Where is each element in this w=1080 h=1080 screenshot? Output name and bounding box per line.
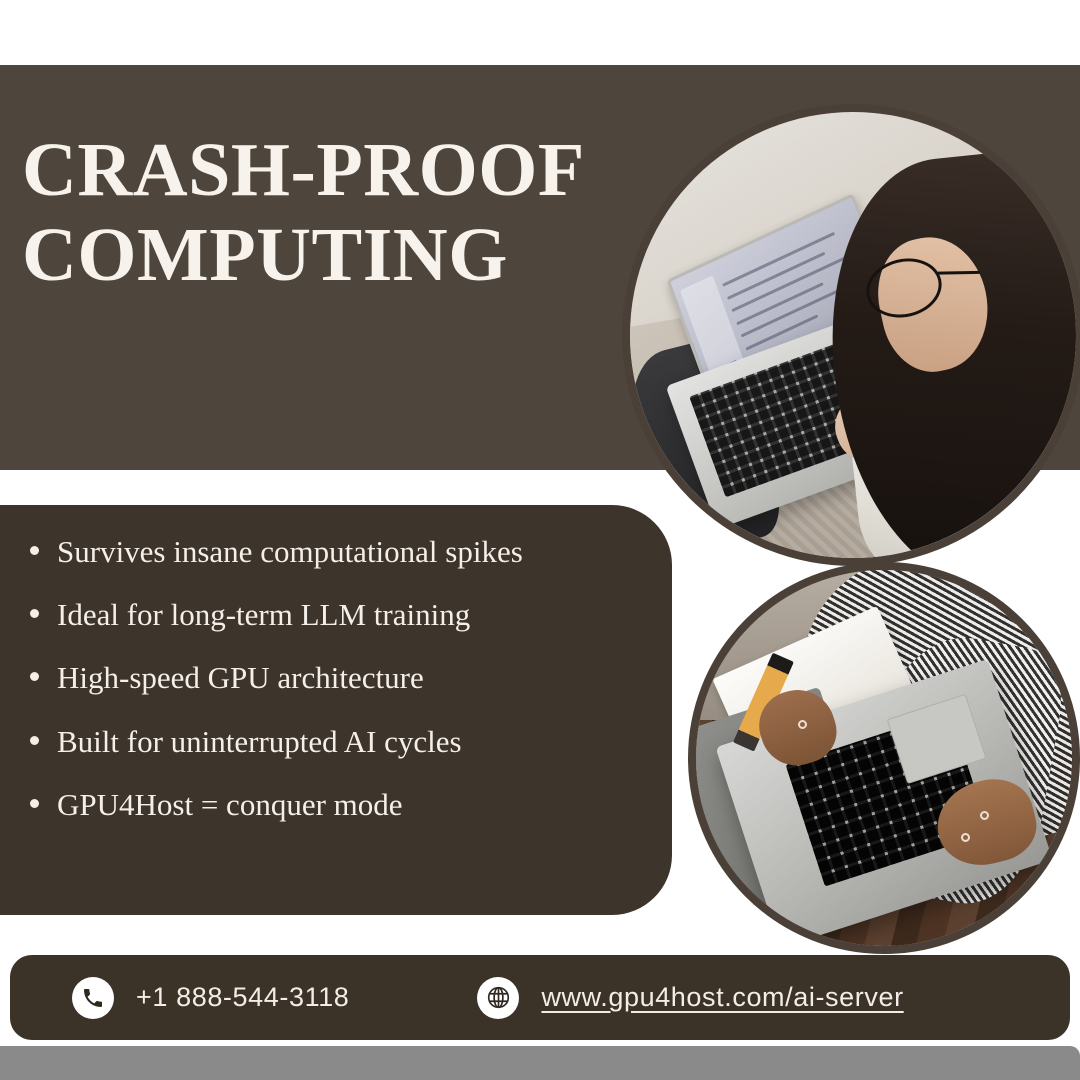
website-url[interactable]: www.gpu4host.com/ai-server <box>541 982 903 1013</box>
list-item: Built for uninterrupted AI cycles <box>30 723 652 760</box>
list-item: GPU4Host = conquer mode <box>30 786 652 823</box>
bullet-icon <box>30 672 39 681</box>
photo-woman-laptop-art <box>630 112 1076 558</box>
feature-label: High-speed GPU architecture <box>57 659 424 696</box>
phone-number: +1 888-544-3118 <box>136 982 349 1013</box>
poster-canvas: CRASH-PROOF COMPUTING <box>0 0 1080 1080</box>
footer-contact-bar: +1 888-544-3118 www.gpu4host.com/ai-serv… <box>10 955 1070 1040</box>
phone-icon <box>72 977 114 1019</box>
bullet-icon <box>30 736 39 745</box>
contact-website[interactable]: www.gpu4host.com/ai-server <box>477 977 903 1019</box>
photo-hands-laptop <box>688 562 1080 954</box>
contact-phone[interactable]: +1 888-544-3118 <box>72 977 349 1019</box>
page-title: CRASH-PROOF COMPUTING <box>22 128 622 298</box>
feature-label: GPU4Host = conquer mode <box>57 786 403 823</box>
bullet-icon <box>30 546 39 555</box>
globe-icon <box>477 977 519 1019</box>
photo-hands-laptop-art <box>696 570 1072 946</box>
photo-woman-laptop <box>622 104 1080 566</box>
list-item: Ideal for long-term LLM training <box>30 596 652 633</box>
feature-label: Built for uninterrupted AI cycles <box>57 723 462 760</box>
feature-label: Ideal for long-term LLM training <box>57 596 470 633</box>
feature-label: Survives insane computational spikes <box>57 533 523 570</box>
list-item: High-speed GPU architecture <box>30 659 652 696</box>
feature-list: Survives insane computational spikes Ide… <box>30 533 652 823</box>
bullet-icon <box>30 609 39 618</box>
bullet-icon <box>30 799 39 808</box>
feature-list-card: Survives insane computational spikes Ide… <box>0 505 672 915</box>
bottom-strip <box>0 1046 1080 1080</box>
list-item: Survives insane computational spikes <box>30 533 652 570</box>
